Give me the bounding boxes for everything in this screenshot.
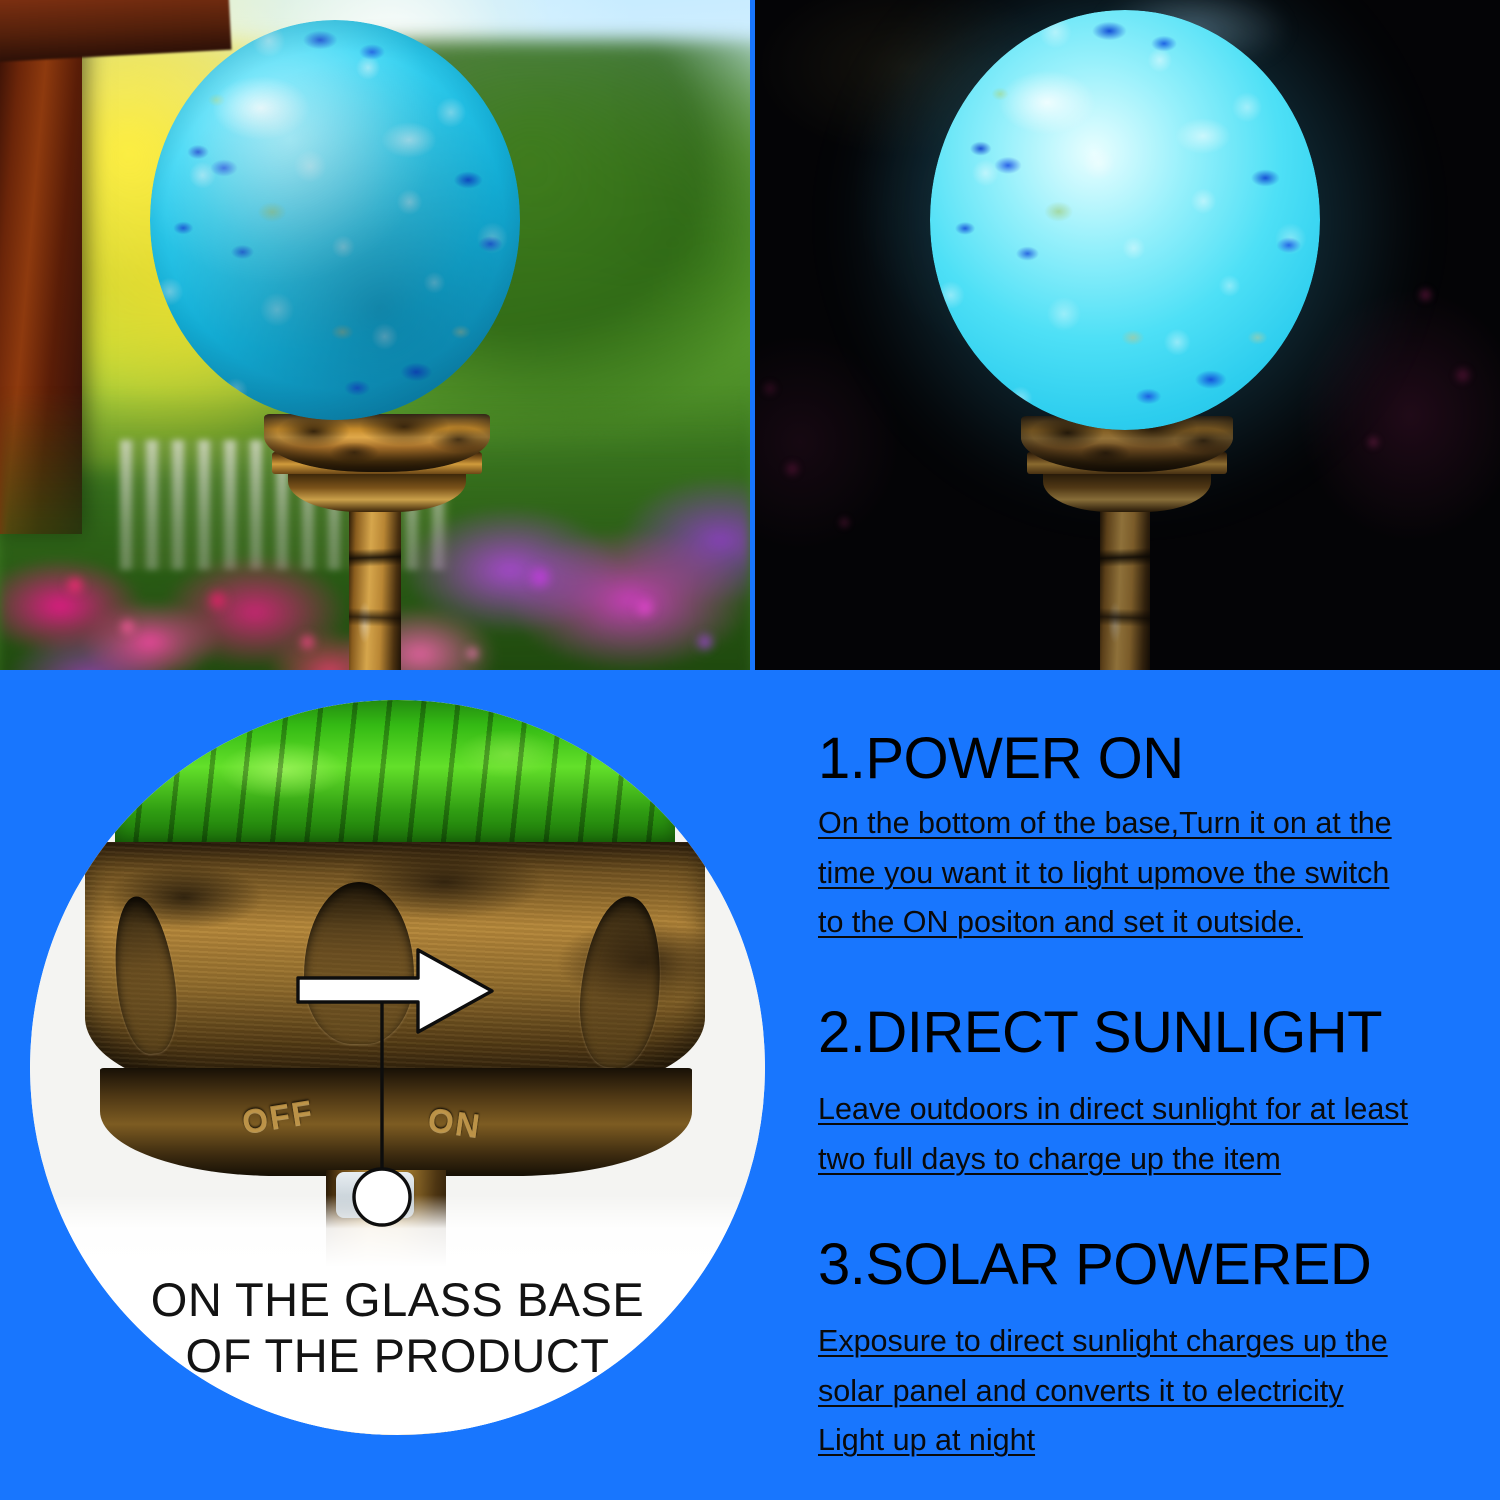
step-direct-sunlight: 2.DIRECT SUNLIGHT Leave outdoors in dire… [818,1002,1478,1184]
step-2-line-2: two full days to charge up the item [818,1135,1478,1184]
step-3-line-1: Exposure to direct sunlight charges up t… [818,1317,1478,1366]
step-3-description: Exposure to direct sunlight charges up t… [818,1317,1478,1465]
inset-caption: ON THE GLASS BASE OF THE PRODUCT [30,1272,765,1383]
step-1-line-3: to the ON positon and set it outside. [818,898,1478,947]
inset-caption-line-1: ON THE GLASS BASE [30,1272,765,1327]
night-photo-panel [755,0,1500,670]
step-1-line-2: time you want it to light upmove the swi… [818,849,1478,898]
step-3-title: 3.SOLAR POWERED [818,1234,1478,1295]
infographic-canvas: OFF ON ON THE GLASS BASE OF THE PRODUCT … [0,0,1500,1500]
step-solar-powered: 3.SOLAR POWERED Exposure to direct sunli… [818,1234,1478,1466]
night-ground-stake [1100,500,1150,670]
callout-marker-circle [354,1169,410,1225]
instruction-steps: 1.POWER ON On the bottom of the base,Tur… [818,728,1478,1500]
step-power-on: 1.POWER ON On the bottom of the base,Tur… [818,728,1478,948]
day-ground-stake [349,500,401,670]
globe-specular-highlight [930,10,1320,430]
step-3-line-3: Light up at night [818,1416,1478,1465]
step-3-line-2: solar panel and converts it to electrici… [818,1367,1478,1416]
arrow-right-icon [298,950,492,1032]
step-2-description: Leave outdoors in direct sunlight for at… [818,1085,1478,1184]
step-2-line-1: Leave outdoors in direct sunlight for at… [818,1085,1478,1134]
glass-globe-night [930,10,1320,430]
switch-location-inset: OFF ON ON THE GLASS BASE OF THE PRODUCT [30,700,765,1435]
inset-caption-line-2: OF THE PRODUCT [30,1328,765,1383]
step-1-title: 1.POWER ON [818,728,1478,789]
glass-globe-day [150,20,520,420]
day-photo-panel [0,0,750,670]
step-1-description: On the bottom of the base,Turn it on at … [818,799,1478,947]
globe-shading [150,20,520,420]
step-2-title: 2.DIRECT SUNLIGHT [818,1002,1478,1063]
step-1-line-1: On the bottom of the base,Turn it on at … [818,799,1478,848]
